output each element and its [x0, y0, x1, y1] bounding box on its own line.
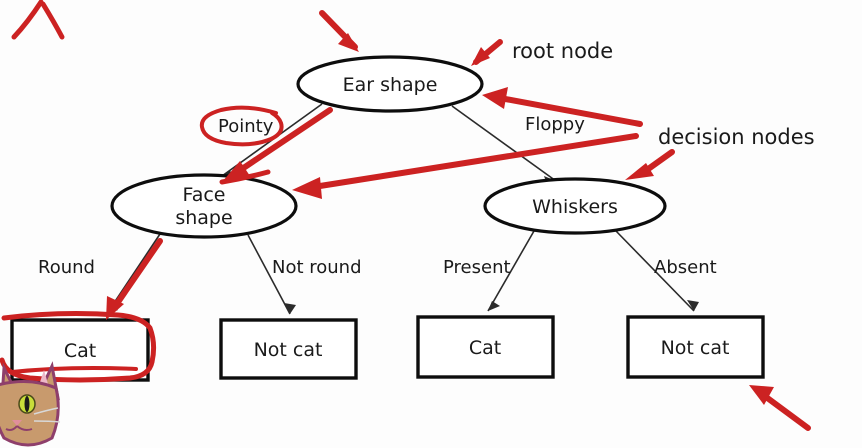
ink-arrow-to-leaf1 — [106, 241, 160, 320]
leaf-node-notcat-notround[interactable]: Not cat — [221, 320, 356, 378]
node-face-shape-label-line1: Face — [183, 184, 226, 206]
edge-label-present: Present — [443, 257, 511, 278]
node-whiskers-label: Whiskers — [532, 196, 618, 218]
leaf3-label: Cat — [469, 337, 501, 359]
leaf2-label: Not cat — [254, 339, 323, 361]
ink-arrow-to-root-top — [322, 13, 359, 52]
node-whiskers[interactable]: Whiskers — [485, 179, 665, 233]
leaf-node-cat-present[interactable]: Cat — [418, 317, 553, 377]
edge-label-not-round: Not round — [272, 257, 362, 278]
arrowhead-whiskers-to-leaf3 — [488, 301, 500, 311]
decision-tree-svg: Ear shape Face shape Whiskers Cat Not ca… — [0, 0, 862, 448]
leaf4-label: Not cat — [661, 337, 730, 359]
edge-label-pointy: Pointy — [218, 116, 274, 137]
edge-label-floppy: Floppy — [525, 114, 585, 135]
annotation-root-node-text: root node — [512, 39, 613, 63]
ink-arrow-to-whiskers — [625, 152, 672, 180]
ink-arrow-to-root-upper-right — [471, 42, 500, 66]
edge-label-round: Round — [38, 257, 95, 278]
node-face-shape-label-line2: shape — [175, 207, 232, 229]
leaf-node-notcat-absent[interactable]: Not cat — [628, 317, 763, 377]
ink-corner-stroke — [14, 2, 62, 37]
node-face-shape[interactable]: Face shape — [112, 175, 296, 237]
node-root-label: Ear shape — [343, 74, 438, 96]
edge-label-absent: Absent — [654, 257, 717, 278]
annotation-decision-nodes-text: decision nodes — [658, 125, 815, 149]
node-root[interactable]: Ear shape — [298, 57, 482, 111]
diagram-canvas: Ear shape Face shape Whiskers Cat Not ca… — [0, 0, 862, 448]
ink-arrow-to-leaf4 — [749, 385, 808, 428]
arrowhead-face-to-leaf2 — [284, 303, 296, 314]
leaf1-label: Cat — [64, 340, 96, 362]
